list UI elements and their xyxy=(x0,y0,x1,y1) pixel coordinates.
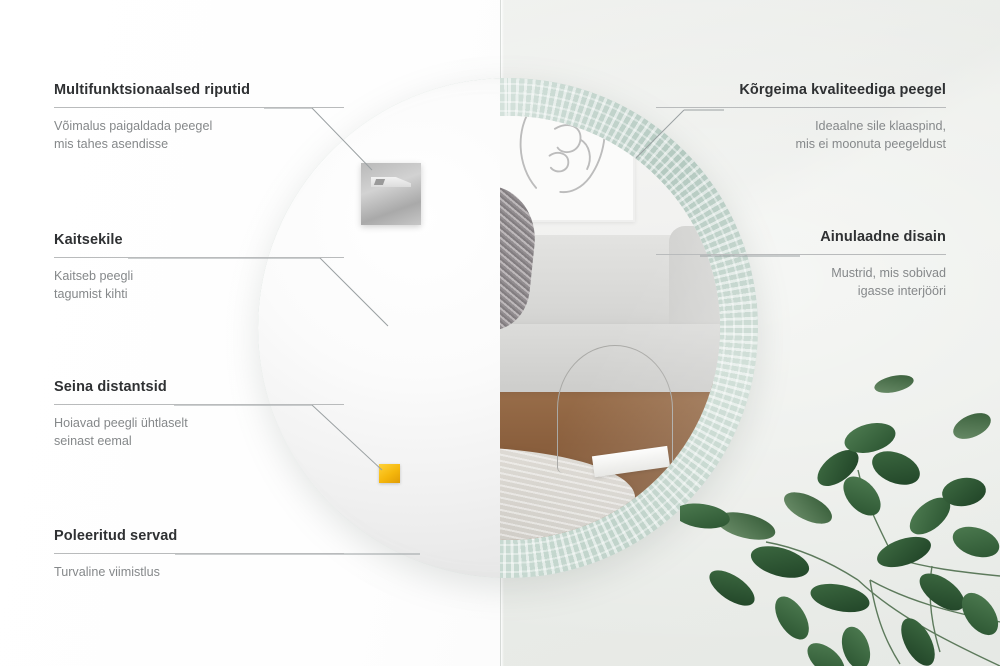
callout-rule xyxy=(54,404,344,405)
callout-title: Kaitsekile xyxy=(54,232,344,248)
plant-leaves xyxy=(680,372,1000,666)
callout-korgeima-kvaliteediga-peegel: Kõrgeima kvaliteediga peegel Ideaalne si… xyxy=(656,82,946,154)
metal-hanger-plate xyxy=(361,163,421,225)
callout-desc: Kaitseb peegli tagumist kihti xyxy=(54,268,344,304)
callout-multifunktsionaalsed-riputid: Multifunktsionaalsed riputid Võimalus pa… xyxy=(54,82,344,154)
callout-desc: Ideaalne sile klaaspind, mis ei moonuta … xyxy=(656,118,946,154)
callout-rule xyxy=(656,254,946,255)
callout-rule xyxy=(54,107,344,108)
yellow-wall-spacer xyxy=(379,464,400,483)
callout-seina-distantsid: Seina distantsid Hoiavad peegli ühtlasel… xyxy=(54,379,344,451)
callout-ainulaadne-disain: Ainulaadne disain Mustrid, mis sobivad i… xyxy=(656,229,946,301)
callout-title: Poleeritud servad xyxy=(54,528,344,544)
callout-title: Kõrgeima kvaliteediga peegel xyxy=(656,82,946,98)
callout-kaitsekile: Kaitsekile Kaitseb peegli tagumist kihti xyxy=(54,232,344,304)
callout-title: Ainulaadne disain xyxy=(656,229,946,245)
infographic-canvas: Multifunktsionaalsed riputid Võimalus pa… xyxy=(0,0,1000,666)
callout-poleeritud-servad: Poleeritud servad Turvaline viimistlus xyxy=(54,528,344,582)
callout-desc: Hoiavad peegli ühtlaselt seinast eemal xyxy=(54,415,344,451)
callout-rule xyxy=(54,553,344,554)
callout-rule xyxy=(54,257,344,258)
callout-desc: Turvaline viimistlus xyxy=(54,564,344,582)
callout-rule xyxy=(656,107,946,108)
callout-title: Multifunktsionaalsed riputid xyxy=(54,82,344,98)
green-leaf-branches xyxy=(680,366,1000,666)
callout-desc: Võimalus paigaldada peegel mis tahes ase… xyxy=(54,118,344,154)
callout-title: Seina distantsid xyxy=(54,379,344,395)
callout-desc: Mustrid, mis sobivad igasse interjööri xyxy=(656,265,946,301)
